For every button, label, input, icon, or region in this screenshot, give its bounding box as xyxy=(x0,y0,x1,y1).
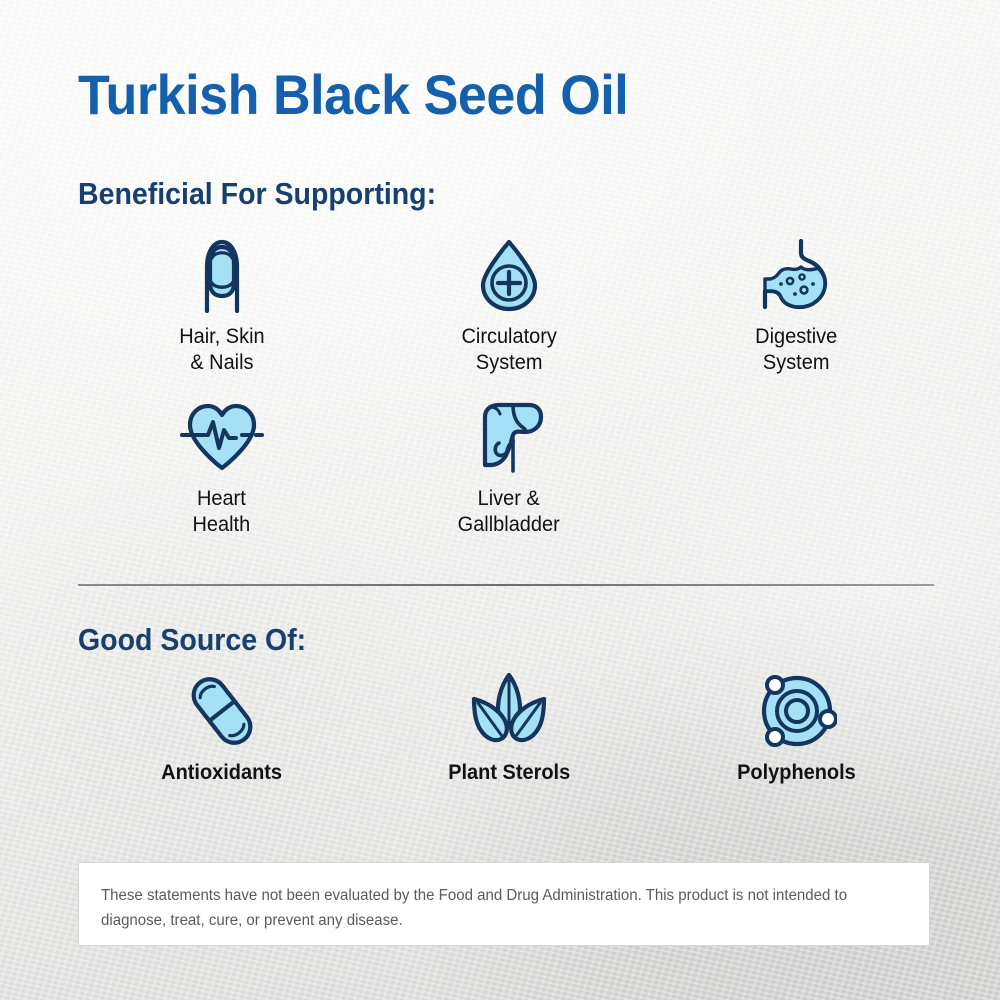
benefit-label: Heart Health xyxy=(193,486,251,538)
benefit-digestive-system: Digestive System xyxy=(653,236,940,376)
source-label: Plant Sterols xyxy=(448,760,570,786)
fingernail-icon xyxy=(187,236,257,314)
good-source-row: Antioxidants Plant Sterols xyxy=(78,672,940,786)
disclaimer-text: These statements have not been evaluated… xyxy=(101,883,883,933)
benefit-hair-skin-nails: Hair, Skin & Nails xyxy=(78,236,365,376)
liver-gallbladder-icon xyxy=(469,398,549,476)
heart-pulse-icon xyxy=(180,398,264,476)
three-leaves-icon xyxy=(466,672,552,750)
disclaimer-box: These statements have not been evaluated… xyxy=(78,862,930,946)
benefits-heading: Beneficial For Supporting: xyxy=(78,176,436,212)
benefit-label: Hair, Skin & Nails xyxy=(179,324,264,376)
benefit-label: Circulatory System xyxy=(461,324,556,376)
capsule-pill-icon xyxy=(181,672,263,750)
page-title: Turkish Black Seed Oil xyxy=(78,62,628,127)
atom-molecule-icon xyxy=(755,672,837,750)
good-source-heading: Good Source Of: xyxy=(78,622,306,658)
blood-drop-plus-icon xyxy=(473,236,545,314)
benefits-row-2-empty xyxy=(653,398,940,538)
source-label: Antioxidants xyxy=(161,760,282,786)
source-antioxidants: Antioxidants xyxy=(78,672,365,786)
benefits-row-2: Heart Health Liver & Gallbladder xyxy=(78,398,940,538)
benefit-label: Liver & Gallbladder xyxy=(458,486,560,538)
stomach-icon xyxy=(757,236,835,314)
benefit-heart-health: Heart Health xyxy=(78,398,365,538)
section-divider xyxy=(78,584,934,586)
benefit-circulatory-system: Circulatory System xyxy=(365,236,652,376)
source-plant-sterols: Plant Sterols xyxy=(365,672,652,786)
benefit-liver-gallbladder: Liver & Gallbladder xyxy=(365,398,652,538)
benefit-label: Digestive System xyxy=(755,324,837,376)
benefits-row-1: Hair, Skin & Nails Circulatory System xyxy=(78,236,940,376)
source-polyphenols: Polyphenols xyxy=(653,672,940,786)
source-label: Polyphenols xyxy=(737,760,856,786)
infographic-page: Turkish Black Seed Oil Beneficial For Su… xyxy=(0,0,1000,1000)
